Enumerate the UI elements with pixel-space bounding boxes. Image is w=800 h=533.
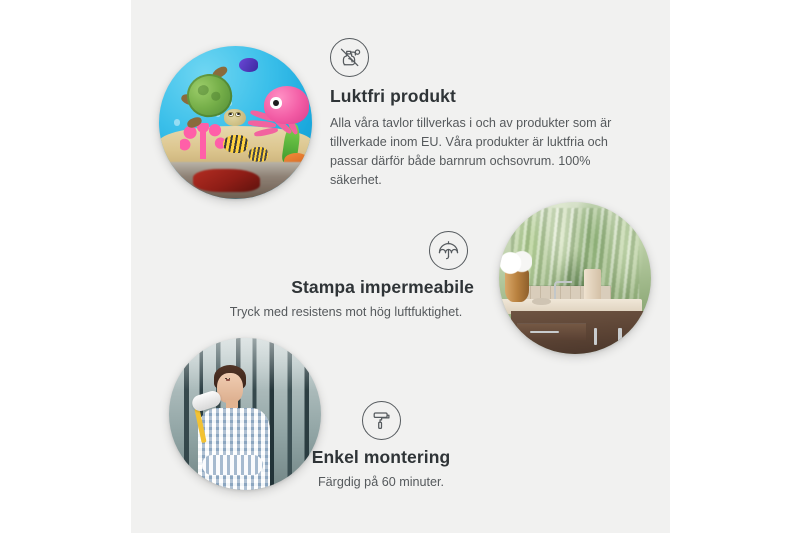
feature-description: Färgdig på 60 minuter. bbox=[258, 473, 504, 492]
turtle-eye bbox=[228, 112, 234, 117]
photo-bottom-overlay bbox=[159, 162, 312, 199]
octopus-eye bbox=[270, 97, 282, 108]
octopus-tentacle bbox=[254, 126, 279, 136]
octopus bbox=[248, 86, 309, 147]
feature-title: Stampa impermeabile bbox=[218, 277, 474, 299]
cabinet-handle bbox=[618, 328, 621, 344]
octopus-head bbox=[264, 86, 309, 124]
feature-title: Enkel montering bbox=[258, 447, 504, 469]
crossed-arms bbox=[202, 455, 263, 475]
promo-page: Luktfri produkt Alla våra tavlor tillver… bbox=[0, 0, 800, 533]
drawer-handle bbox=[530, 331, 559, 332]
feature-title: Luktfri produkt bbox=[330, 86, 630, 108]
feature-odorless: Luktfri produkt Alla våra tavlor tillver… bbox=[330, 38, 630, 190]
wooden-vanity-cabinet bbox=[511, 311, 645, 354]
sea-turtle bbox=[183, 70, 244, 128]
face-shape bbox=[217, 373, 243, 403]
feature-description: Tryck med resistens mot hög luftfuktighe… bbox=[218, 303, 474, 322]
eye-shape bbox=[225, 378, 226, 379]
fish-striped-small bbox=[248, 147, 268, 162]
fish-striped-yellow bbox=[223, 135, 247, 153]
turtle-fin bbox=[186, 116, 203, 129]
underwater-kids-scene-photo bbox=[159, 46, 312, 199]
feature-description: Alla våra tavlor tillverkas i och av pro… bbox=[330, 114, 614, 191]
no-spray-bottle-icon bbox=[330, 38, 369, 77]
umbrella-icon bbox=[429, 231, 468, 270]
feature-easy-assembly: Enkel montering Färgdig på 60 minuter. bbox=[258, 401, 504, 492]
smile-shape bbox=[226, 379, 230, 380]
white-flowers bbox=[499, 251, 532, 275]
soap-dispenser bbox=[584, 269, 601, 302]
paint-roller-icon bbox=[362, 401, 401, 440]
turtle-eye bbox=[235, 112, 241, 117]
feature-waterproof: Stampa impermeabile Tryck med resistens … bbox=[218, 231, 474, 322]
bathroom-tropical-wallpaper-photo bbox=[499, 202, 651, 354]
eye-shape bbox=[229, 378, 230, 379]
faucet-shape bbox=[554, 281, 572, 299]
turtle-head bbox=[224, 109, 246, 126]
cabinet-handle bbox=[594, 328, 597, 344]
